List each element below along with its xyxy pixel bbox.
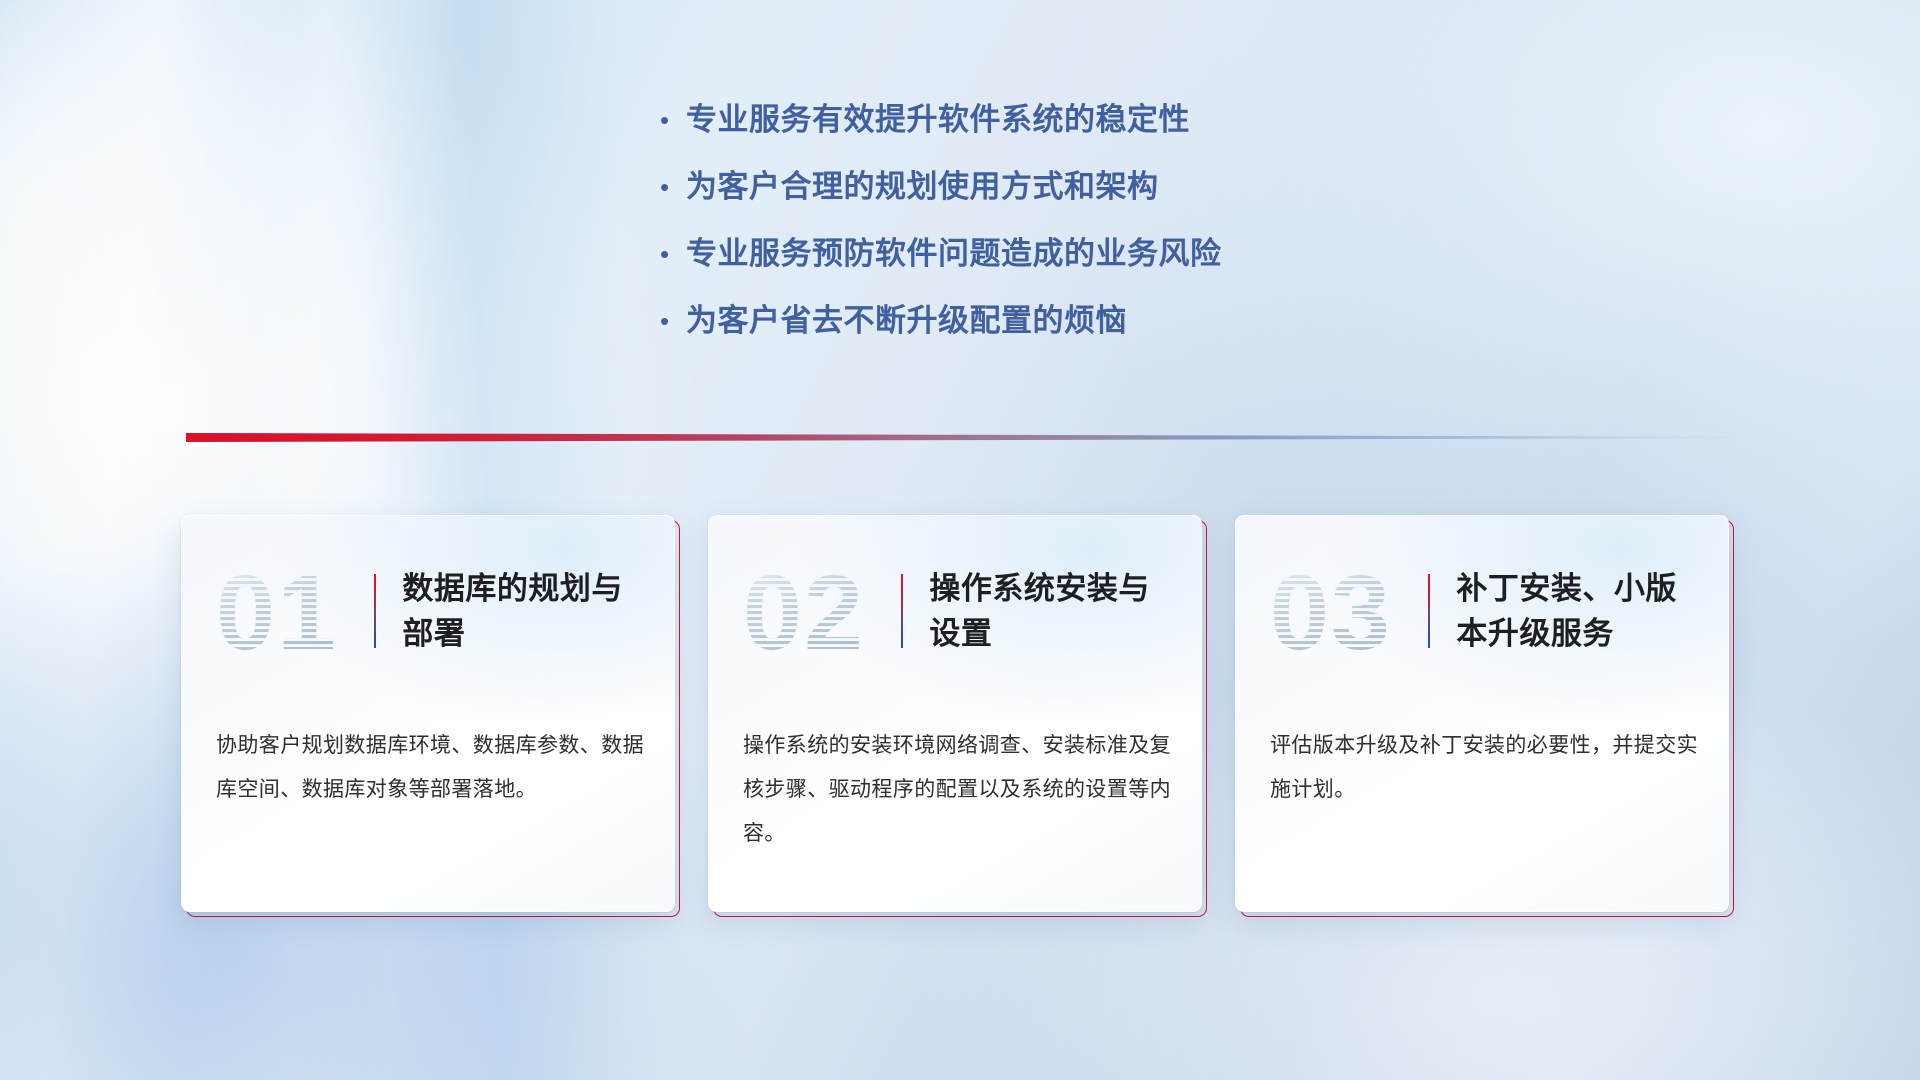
ghost-number-02-icon: 02 02 <box>743 557 895 665</box>
card-description: 操作系统的安装环境网络调查、安装标准及复核步骤、驱动程序的配置以及系统的设置等内… <box>743 724 1171 856</box>
list-item: • 专业服务有效提升软件系统的稳定性 <box>660 102 1222 138</box>
card-title: 补丁安装、小版本升级服务 <box>1456 566 1706 656</box>
ghost-number-03-icon: 03 03 <box>1270 557 1422 665</box>
service-card-row: 01 01 数据库的规划与部署 协助客户规划数据库环境、数据库参数、数据库空间、… <box>186 520 1734 917</box>
service-card[interactable]: 02 02 操作系统安装与设置 操作系统的安装环境网络调查、安装标准及复核步骤、… <box>713 520 1207 917</box>
card-title-divider <box>901 574 903 648</box>
card-surface: 02 02 操作系统安装与设置 操作系统的安装环境网络调查、安装标准及复核步骤、… <box>708 515 1202 912</box>
svg-text:03: 03 <box>1270 557 1392 665</box>
ghost-number-01-icon: 01 01 <box>216 557 368 665</box>
card-number-watermark: 01 01 <box>216 557 368 665</box>
card-header: 01 01 数据库的规划与部署 <box>182 516 674 706</box>
tapered-rule-icon <box>186 427 1734 449</box>
card-header: 03 03 补丁安装、小版本升级服务 <box>1236 516 1728 706</box>
bullet-text: 专业服务有效提升软件系统的稳定性 <box>686 102 1190 138</box>
bullet-dot-icon: • <box>660 236 686 272</box>
bullet-dot-icon: • <box>660 102 686 138</box>
card-title: 数据库的规划与部署 <box>402 566 652 656</box>
card-number-watermark: 03 03 <box>1270 557 1422 665</box>
card-title-divider <box>374 574 376 648</box>
card-header: 02 02 操作系统安装与设置 <box>709 516 1201 706</box>
card-surface: 03 03 补丁安装、小版本升级服务 评估版本升级及补丁安装的必要性，并提交实施… <box>1235 515 1729 912</box>
service-card[interactable]: 01 01 数据库的规划与部署 协助客户规划数据库环境、数据库参数、数据库空间、… <box>186 520 680 917</box>
card-description: 评估版本升级及补丁安装的必要性，并提交实施计划。 <box>1270 724 1698 812</box>
section-divider <box>186 427 1734 449</box>
bullet-dot-icon: • <box>660 169 686 205</box>
bullet-dot-icon: • <box>660 303 686 339</box>
bullet-text: 为客户省去不断升级配置的烦恼 <box>686 303 1127 339</box>
slide-canvas: • 专业服务有效提升软件系统的稳定性 • 为客户合理的规划使用方式和架构 • 专… <box>0 0 1920 1080</box>
card-surface: 01 01 数据库的规划与部署 协助客户规划数据库环境、数据库参数、数据库空间、… <box>181 515 675 912</box>
bullet-text: 为客户合理的规划使用方式和架构 <box>686 169 1159 205</box>
benefits-bullet-list: • 专业服务有效提升软件系统的稳定性 • 为客户合理的规划使用方式和架构 • 专… <box>660 102 1222 370</box>
list-item: • 为客户省去不断升级配置的烦恼 <box>660 303 1222 339</box>
list-item: • 专业服务预防软件问题造成的业务风险 <box>660 236 1222 272</box>
card-number-watermark: 02 02 <box>743 557 895 665</box>
svg-text:01: 01 <box>216 557 338 665</box>
bullet-text: 专业服务预防软件问题造成的业务风险 <box>686 236 1222 272</box>
card-title: 操作系统安装与设置 <box>929 566 1179 656</box>
list-item: • 为客户合理的规划使用方式和架构 <box>660 169 1222 205</box>
svg-text:02: 02 <box>743 557 865 665</box>
card-description: 协助客户规划数据库环境、数据库参数、数据库空间、数据库对象等部署落地。 <box>216 724 644 812</box>
service-card[interactable]: 03 03 补丁安装、小版本升级服务 评估版本升级及补丁安装的必要性，并提交实施… <box>1240 520 1734 917</box>
card-title-divider <box>1428 574 1430 648</box>
